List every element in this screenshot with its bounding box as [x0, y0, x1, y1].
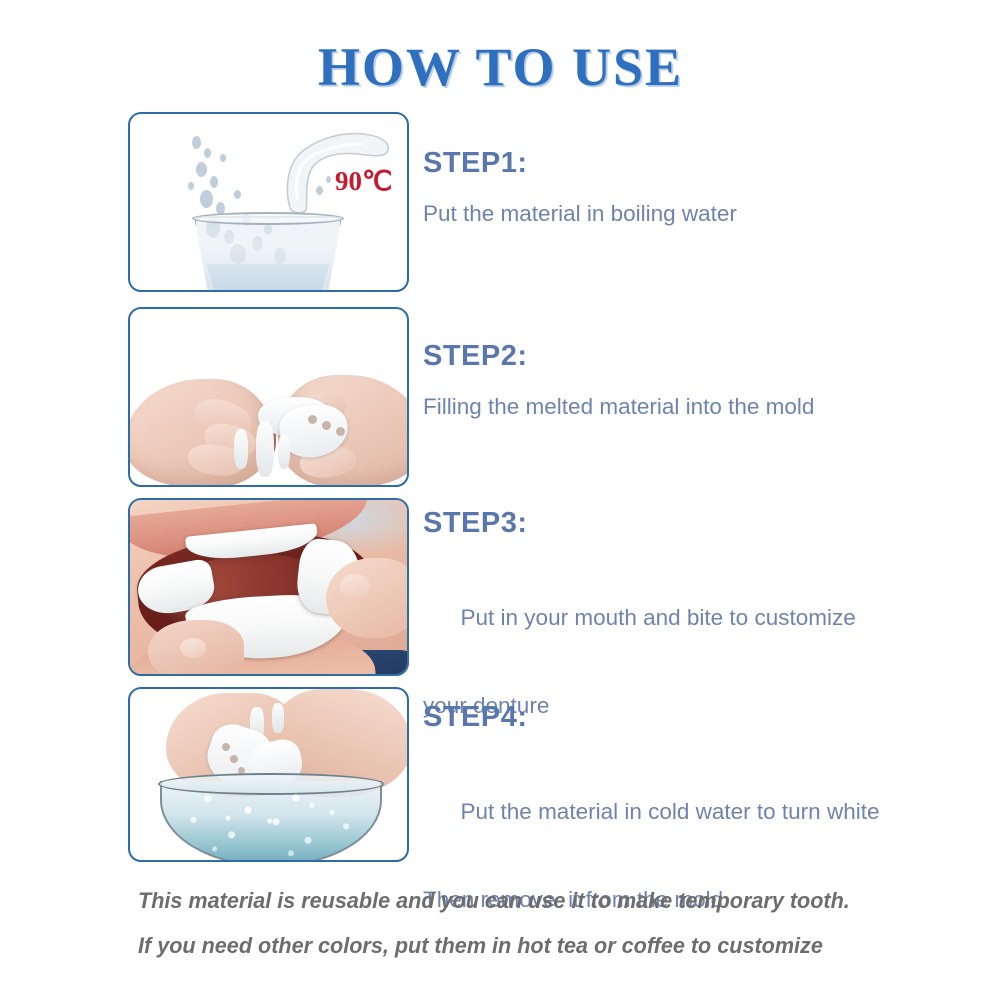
step-1-image-panel: 90℃ — [128, 112, 409, 292]
step-4-description-line-1: Put the material in cold water to turn w… — [461, 799, 880, 824]
footer-note: This material is reusable and you can us… — [138, 878, 898, 968]
step-2-text: STEP2: Filling the melted material into … — [423, 341, 923, 429]
step-2-description: Filling the melted material into the mol… — [423, 385, 923, 429]
how-to-use-infographic: HOW TO USE — [0, 0, 1001, 1001]
footer-line-1: This material is reusable and you can us… — [138, 878, 868, 923]
material-fragment — [234, 429, 248, 469]
droplet — [316, 186, 323, 195]
step-4-label: STEP4: — [423, 702, 923, 734]
droplet — [326, 176, 331, 183]
thumb — [326, 558, 409, 638]
step-2-image-panel — [128, 307, 409, 487]
footer-line-2: If you need other colors, put them in ho… — [138, 923, 868, 968]
step-4-image-panel — [128, 687, 409, 862]
hands-cold-water-bowl-photo — [130, 689, 407, 860]
mouth-biting-denture-photo — [130, 500, 407, 674]
temperature-badge: 90℃ — [335, 166, 392, 197]
step-3-label: STEP3: — [423, 508, 923, 540]
material-fragment — [278, 435, 290, 469]
step-1-label: STEP1: — [423, 148, 923, 180]
boiling-water-glass-photo: 90℃ — [130, 114, 407, 290]
glass-water-level — [204, 264, 332, 292]
fingernail — [180, 638, 206, 658]
step-3-image-panel — [128, 498, 409, 676]
glass-rim — [192, 212, 344, 225]
step-3-description-line-1: Put in your mouth and bite to customize — [461, 605, 856, 630]
hands-filling-mold-photo — [130, 309, 407, 485]
material-fragment — [272, 703, 284, 733]
material-fragment — [256, 421, 274, 477]
water-surface-foam — [172, 785, 372, 831]
step-2-label: STEP2: — [423, 341, 923, 373]
step-1-description: Put the material in boiling water — [423, 192, 923, 236]
fingernail — [340, 574, 370, 598]
step-1-text: STEP1: Put the material in boiling water — [423, 148, 923, 236]
page-title: HOW TO USE — [0, 36, 1001, 98]
